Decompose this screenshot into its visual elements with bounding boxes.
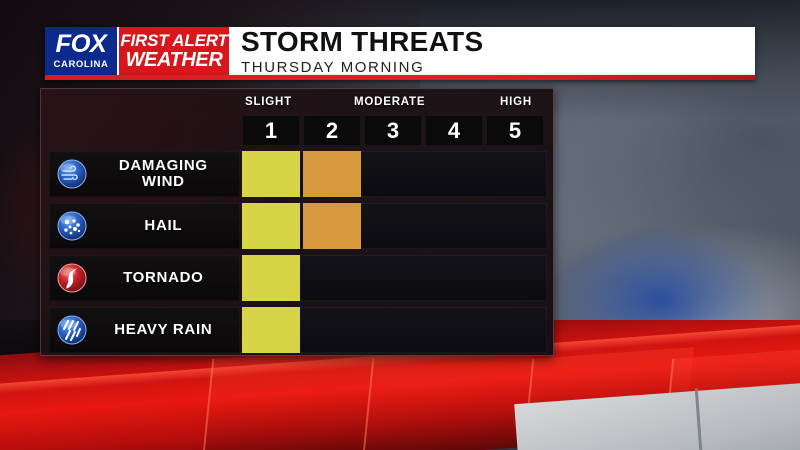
threat-cell-3 (364, 151, 422, 197)
threat-cell-4 (425, 307, 483, 353)
page-title: STORM THREATS (241, 28, 755, 56)
hail-icon (49, 210, 95, 242)
wind-icon (49, 158, 95, 190)
tornado-icon (49, 262, 95, 294)
threat-row-label-box: HAIL (49, 203, 240, 249)
weather-line: WEATHER (126, 50, 223, 70)
first-alert-line: FIRST ALERT (120, 32, 227, 49)
threat-cell-2 (303, 255, 361, 301)
threat-cell-2 (303, 151, 361, 197)
scale-number-5: 5 (486, 115, 544, 146)
page-subtitle: THURSDAY MORNING (241, 60, 755, 75)
threat-cell-3 (364, 307, 422, 353)
band-facet (200, 347, 374, 450)
first-alert-weather-logo: FIRST ALERT WEATHER (117, 27, 229, 75)
threat-row-name-line2: WIND (95, 174, 232, 190)
threat-cell-5 (486, 151, 544, 197)
threat-cell-1 (242, 203, 300, 249)
threat-cell-1 (242, 307, 300, 353)
threat-row-name: HAIL (95, 218, 240, 234)
threat-row: HAIL (49, 203, 547, 249)
scale-label-slight: SLIGHT (245, 97, 292, 109)
threat-cell-2 (303, 203, 361, 249)
threat-row-label-box: HEAVY RAIN (49, 307, 240, 353)
threat-row-label-box: TORNADO (49, 255, 240, 301)
threat-cell-5 (486, 307, 544, 353)
threat-cell-3 (364, 255, 422, 301)
rain-icon (49, 314, 95, 346)
threat-cell-2 (303, 307, 361, 353)
scale-label-moderate: MODERATE (354, 97, 425, 109)
threat-matrix-panel: SLIGHT MODERATE HIGH 1 2 3 4 5 (40, 88, 554, 356)
title-bar: FOX CAROLINA FIRST ALERT WEATHER STORM T… (45, 27, 755, 75)
scale-label-high: HIGH (500, 97, 532, 109)
title-block: STORM THREATS THURSDAY MORNING (229, 27, 755, 75)
scale-label-row: SLIGHT MODERATE HIGH (242, 97, 548, 113)
threat-cell-1 (242, 255, 300, 301)
threat-row-name-line1: TORNADO (95, 270, 232, 286)
threat-cell-5 (486, 203, 544, 249)
threat-row-cells (242, 255, 547, 301)
fox-carolina-logo: FOX CAROLINA (45, 27, 117, 75)
threat-cell-4 (425, 151, 483, 197)
threat-row: TORNADO (49, 255, 547, 301)
threat-row-name: TORNADO (95, 270, 240, 286)
fox-wordmark: FOX (56, 32, 107, 57)
weather-graphic: FOX CAROLINA FIRST ALERT WEATHER STORM T… (0, 0, 800, 450)
band-facet (360, 347, 534, 450)
scale-number-4: 4 (425, 115, 483, 146)
threat-row-cells (242, 203, 547, 249)
scale-number-3: 3 (364, 115, 422, 146)
scale-number-row: 1 2 3 4 5 (242, 115, 544, 146)
threat-row-label-box: DAMAGING WIND (49, 151, 240, 197)
market-name: CAROLINA (54, 60, 109, 70)
scale-number-2: 2 (303, 115, 361, 146)
threat-row-name-line1: HAIL (95, 218, 232, 234)
threat-row-cells (242, 151, 547, 197)
threat-cell-3 (364, 203, 422, 249)
threat-row-name: HEAVY RAIN (95, 322, 240, 338)
threat-row: DAMAGING WIND (49, 151, 547, 197)
threat-row-cells (242, 307, 547, 353)
threat-cell-5 (486, 255, 544, 301)
threat-row-name-line1: DAMAGING (95, 158, 232, 174)
threat-cell-4 (425, 203, 483, 249)
threat-cell-1 (242, 151, 300, 197)
threat-row: HEAVY RAIN (49, 307, 547, 353)
threat-row-name: DAMAGING WIND (95, 158, 240, 189)
title-underline (45, 75, 755, 80)
threat-row-name-line1: HEAVY RAIN (95, 322, 232, 338)
threat-rows: DAMAGING WIND (49, 151, 547, 359)
threat-cell-4 (425, 255, 483, 301)
scale-number-1: 1 (242, 115, 300, 146)
